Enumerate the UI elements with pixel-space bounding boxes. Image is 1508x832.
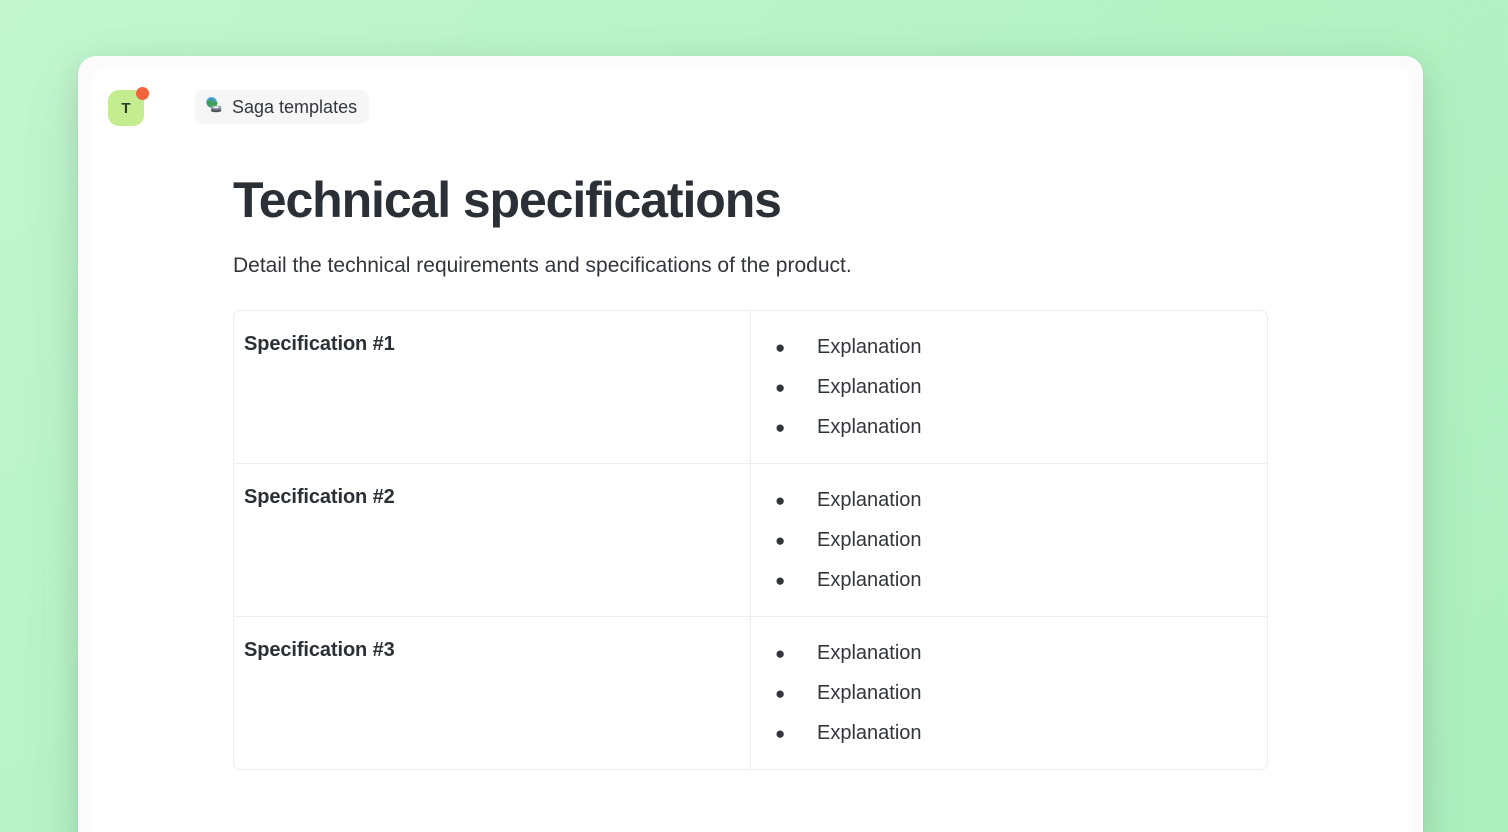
breadcrumb-saga-templates[interactable]: Saga templates — [195, 90, 369, 124]
table-cell-specification-name[interactable]: Specification #1 — [234, 311, 751, 463]
table-row[interactable]: Specification #2 ● Explanation ● Explana… — [234, 464, 1267, 617]
bullet-icon: ● — [775, 489, 817, 513]
list-item[interactable]: ● Explanation — [775, 560, 1267, 600]
page-subtitle: Detail the technical requirements and sp… — [233, 252, 1409, 280]
avatar[interactable]: T — [108, 90, 146, 128]
list-item[interactable]: ● Explanation — [775, 480, 1267, 520]
list-item-label: Explanation — [817, 719, 922, 747]
table-row[interactable]: Specification #1 ● Explanation ● Explana… — [234, 311, 1267, 464]
list-item[interactable]: ● Explanation — [775, 713, 1267, 753]
notification-dot-icon — [136, 87, 149, 100]
list-item-label: Explanation — [817, 373, 922, 401]
specifications-table: Specification #1 ● Explanation ● Explana… — [233, 310, 1268, 770]
table-cell-explanations[interactable]: ● Explanation ● Explanation ● Explanatio… — [751, 464, 1267, 616]
table-cell-explanations[interactable]: ● Explanation ● Explanation ● Explanatio… — [751, 311, 1267, 463]
explanation-list: ● Explanation ● Explanation ● Explanatio… — [775, 480, 1267, 600]
list-item-label: Explanation — [817, 486, 922, 514]
bullet-icon: ● — [775, 529, 817, 553]
list-item-label: Explanation — [817, 566, 922, 594]
table-cell-specification-name[interactable]: Specification #2 — [234, 464, 751, 616]
bullet-icon: ● — [775, 376, 817, 400]
bullet-icon: ● — [775, 642, 817, 666]
list-item[interactable]: ● Explanation — [775, 407, 1267, 447]
bullet-icon: ● — [775, 416, 817, 440]
specification-label: Specification #2 — [244, 486, 395, 508]
list-item[interactable]: ● Explanation — [775, 520, 1267, 560]
specification-label: Specification #1 — [244, 333, 395, 355]
list-item[interactable]: ● Explanation — [775, 327, 1267, 367]
page-title: Technical specifications — [233, 172, 1409, 228]
table-row[interactable]: Specification #3 ● Explanation ● Explana… — [234, 617, 1267, 769]
top-bar: T Saga templates — [92, 68, 1409, 146]
bullet-icon: ● — [775, 569, 817, 593]
list-item-label: Explanation — [817, 639, 922, 667]
bullet-icon: ● — [775, 336, 817, 360]
app-content-surface: T Saga templates Technical specification… — [92, 68, 1409, 832]
list-item[interactable]: ● Explanation — [775, 673, 1267, 713]
breadcrumb-label: Saga templates — [232, 97, 357, 118]
table-cell-explanations[interactable]: ● Explanation ● Explanation ● Explanatio… — [751, 617, 1267, 769]
specification-label: Specification #3 — [244, 639, 395, 661]
explanation-list: ● Explanation ● Explanation ● Explanatio… — [775, 633, 1267, 753]
list-item-label: Explanation — [817, 333, 922, 361]
globe-books-icon — [204, 96, 223, 118]
list-item-label: Explanation — [817, 413, 922, 441]
document-body: Technical specifications Detail the tech… — [92, 146, 1409, 770]
bullet-icon: ● — [775, 722, 817, 746]
table-cell-specification-name[interactable]: Specification #3 — [234, 617, 751, 769]
bullet-icon: ● — [775, 682, 817, 706]
list-item[interactable]: ● Explanation — [775, 367, 1267, 407]
list-item-label: Explanation — [817, 526, 922, 554]
explanation-list: ● Explanation ● Explanation ● Explanatio… — [775, 327, 1267, 447]
list-item[interactable]: ● Explanation — [775, 633, 1267, 673]
list-item-label: Explanation — [817, 679, 922, 707]
